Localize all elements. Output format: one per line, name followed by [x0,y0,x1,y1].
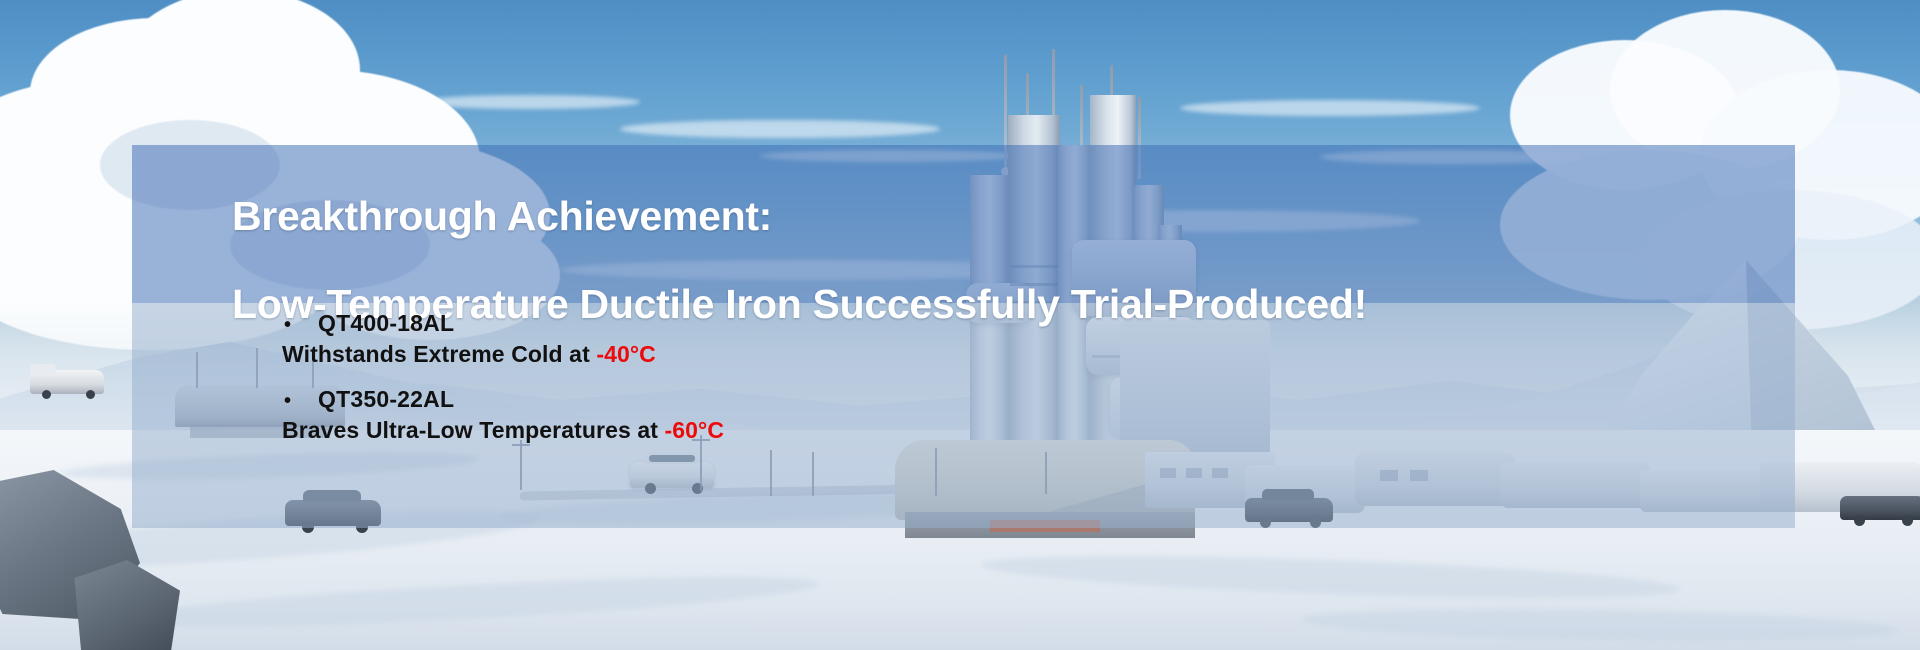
bullet-dot-icon: • [284,315,318,335]
bullet-dot-icon: • [284,391,318,411]
truck-cab [30,364,56,376]
bullet-row: • QT400-18AL [132,310,1795,337]
vehicle-tire [1902,515,1913,526]
vehicle-tire [86,390,95,399]
list-item: • QT350-22AL Braves Ultra-Low Temperatur… [132,386,1795,444]
feature-list: • QT400-18AL Withstands Extreme Cold at … [132,310,1795,462]
cloud-wisp [1180,100,1480,116]
temperature-value: -40°C [596,341,656,367]
material-grade-label: QT400-18AL [318,310,454,337]
promotional-banner: Breakthrough Achievement: Low-Temperatur… [0,0,1920,650]
claim-prefix: Braves Ultra-Low Temperatures at [282,417,665,443]
claim-prefix: Withstands Extreme Cold at [282,341,596,367]
text-overlay-panel: Breakthrough Achievement: Low-Temperatur… [132,145,1795,528]
claim-text: Withstands Extreme Cold at -40°C [132,341,1795,368]
cloud-wisp [620,120,940,138]
temperature-value: -60°C [665,417,725,443]
headline-line-1: Breakthrough Achievement: [232,196,1792,237]
bullet-row: • QT350-22AL [132,386,1795,413]
vehicle-tire [42,390,51,399]
claim-text: Braves Ultra-Low Temperatures at -60°C [132,417,1795,444]
list-item: • QT400-18AL Withstands Extreme Cold at … [132,310,1795,368]
vehicle-tire [1854,515,1865,526]
material-grade-label: QT350-22AL [318,386,454,413]
cloud-wisp [420,95,640,109]
